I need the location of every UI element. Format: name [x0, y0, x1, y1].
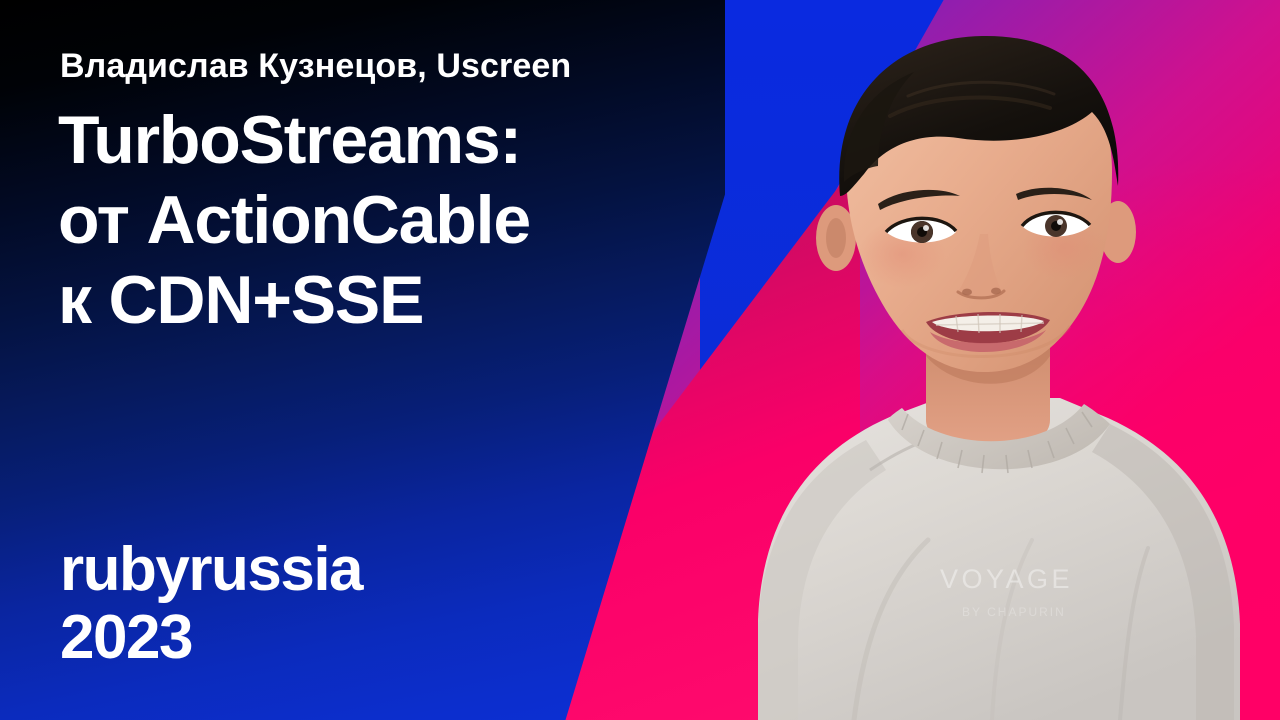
- portrait-head: [816, 36, 1136, 372]
- talk-title: TurboStreams: от ActionCable к CDN+SSE: [58, 100, 698, 340]
- talk-title-line-1: TurboStreams:: [58, 100, 698, 180]
- talk-title-line-3: к CDN+SSE: [58, 260, 698, 340]
- talk-title-slide: VOYAGE BY CHAPURIN Владислав Кузнецов, U…: [0, 0, 1280, 720]
- brand-name: rubyrussia: [60, 536, 362, 604]
- conference-brand: rubyrussia 2023: [60, 536, 362, 672]
- svg-text:BY CHAPURIN: BY CHAPURIN: [962, 605, 1066, 619]
- svg-text:VOYAGE: VOYAGE: [940, 564, 1073, 594]
- brand-year: 2023: [60, 604, 362, 672]
- speaker-name: Владислав Кузнецов, Uscreen: [60, 47, 571, 86]
- talk-title-line-2: от ActionCable: [58, 180, 698, 260]
- speaker-portrait: VOYAGE BY CHAPURIN: [640, 0, 1280, 720]
